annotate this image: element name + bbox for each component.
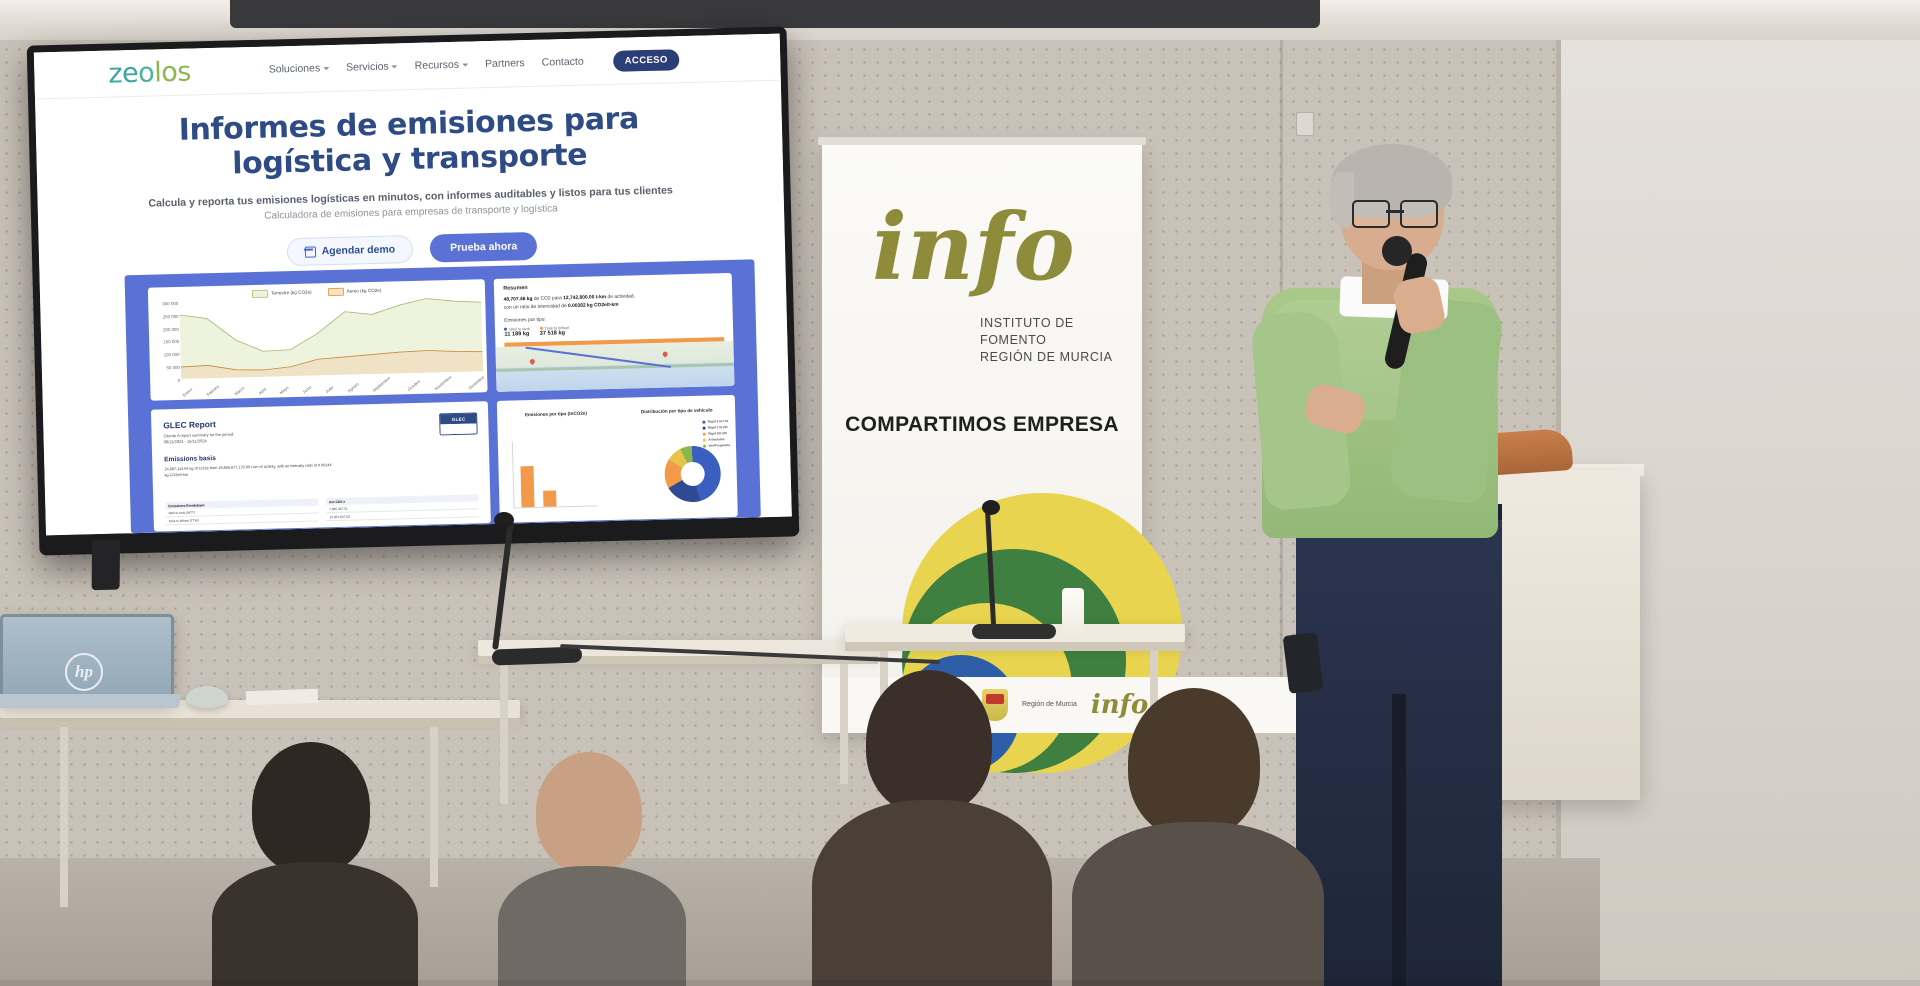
y-tick: 300 000 xyxy=(162,301,178,306)
donut-legend-item: Rigid 20t-26t xyxy=(703,431,730,436)
x-tick: Septiembre xyxy=(372,375,392,392)
x-tick: Junio xyxy=(302,384,313,394)
water-bottle xyxy=(1062,588,1084,638)
wall-plate xyxy=(1296,112,1314,136)
glec-table: Emissions Breakdown Well to tank (WTT) T… xyxy=(165,494,479,525)
y-axis-tick-labels: 300 000 250 000 200 000 150 000 100 000 … xyxy=(150,301,180,384)
vehicle-type-donut-chart xyxy=(664,445,721,502)
info-logo: info xyxy=(872,201,1042,311)
x-axis-tick-labels: Enero Febrero Marzo Abril Mayo Junio Jul… xyxy=(182,386,486,399)
legend-dot-icon xyxy=(703,438,706,441)
bar xyxy=(521,466,535,507)
handheld-microphone-head-icon xyxy=(1382,236,1412,266)
glec-report-card: GLEC GLEC Report Cliente A report summar… xyxy=(151,401,491,531)
x-tick: Julio xyxy=(325,385,335,394)
prueba-ahora-button[interactable]: Prueba ahora xyxy=(430,232,538,263)
charts-card: Emisiones por tipo (tnCO2e) Distribución… xyxy=(497,395,738,523)
audience-shoulders xyxy=(812,800,1052,986)
chevron-down-icon xyxy=(323,67,329,70)
glasses-bridge xyxy=(1386,210,1404,213)
x-tick: Mayo xyxy=(279,385,290,395)
glec-badge-lower xyxy=(441,423,477,434)
ceiling-dark-panel xyxy=(230,0,1320,28)
legend-dot-icon xyxy=(703,426,706,429)
map-pin-icon xyxy=(528,358,535,365)
map-pin-icon xyxy=(661,350,668,357)
x-tick: Noviembre xyxy=(434,375,453,392)
audience-shoulders xyxy=(212,862,418,986)
page-title: Informes de emisiones para logística y t… xyxy=(35,98,783,187)
nav-label: Soluciones xyxy=(269,62,321,75)
x-tick: Diciembre xyxy=(467,375,485,391)
logo-part-3: los xyxy=(154,56,191,88)
nav-item-contacto[interactable]: Contacto xyxy=(542,56,584,69)
donut-legend-label: Rigid 3.5t-7.5t xyxy=(708,419,728,424)
nav-item-servicios[interactable]: Servicios xyxy=(346,60,398,73)
bar xyxy=(543,491,556,507)
y-tick: 150 000 xyxy=(163,339,179,344)
y-tick: 250 000 xyxy=(163,314,179,319)
lens-left xyxy=(1352,200,1390,228)
emissions-area-chart-card: Terrestre (kg CO2e) Aereo (kg CO2e) 300 … xyxy=(148,279,488,401)
calendar-icon xyxy=(305,246,316,257)
laptop: hp xyxy=(0,614,174,702)
x-tick: Enero xyxy=(182,387,194,398)
front-table-edge xyxy=(0,718,520,727)
nav-label: Servicios xyxy=(346,61,389,74)
resumen-title: Resumen xyxy=(503,280,732,292)
nav-item-partners[interactable]: Partners xyxy=(485,57,525,70)
nav-item-recursos[interactable]: Recursos xyxy=(415,59,469,72)
resumen-text: de actividad, xyxy=(606,294,635,300)
microphone-head-icon xyxy=(494,512,514,528)
audience-head xyxy=(866,670,992,814)
glec-table-col-2: Act CO2 e 7,865,367.51 16,821,847.03 xyxy=(326,494,479,521)
x-tick: Febrero xyxy=(206,384,221,397)
legend-label: Terrestre (kg CO2e) xyxy=(271,290,312,296)
resumen-breakdown-items: Well to tank 11 189 kg Tank to Wheel 37 … xyxy=(504,321,724,338)
legend-item-aereo: Aereo (kg CO2e) xyxy=(328,287,382,296)
x-tick: Octubre xyxy=(406,379,421,392)
cta-secondary-label: Agendar demo xyxy=(322,244,396,258)
legend-item-terrestre: Terrestre (kg CO2e) xyxy=(252,289,312,298)
x-tick: Agosto xyxy=(346,381,359,393)
tv-display: zeolos Soluciones Servicios Recursos Par… xyxy=(34,34,792,536)
screenshot-stage: zeolos Soluciones Servicios Recursos Par… xyxy=(0,0,1920,986)
hp-logo: hp xyxy=(65,653,103,691)
y-tick: 200 000 xyxy=(163,327,179,332)
y-tick: 0 xyxy=(178,378,181,383)
resumen-activity-value: 12,742,800.00 t-km xyxy=(563,295,606,301)
audience-head xyxy=(536,752,642,872)
map-background xyxy=(496,341,735,392)
nav-item-soluciones[interactable]: Soluciones xyxy=(269,62,330,76)
info-subtitle-line2: REGIÓN DE MURCIA xyxy=(980,349,1142,366)
paper-sheet xyxy=(246,689,318,706)
banner-footer-text: Región de Murcia xyxy=(1022,700,1077,709)
audience-head xyxy=(252,742,370,874)
eyeglasses-icon xyxy=(1352,200,1438,224)
resumen-summary-card: Resumen 48,707.46 kg de CO2 para 12,742,… xyxy=(494,273,734,392)
glec-badge: GLEC xyxy=(439,412,478,435)
bottom-edge xyxy=(0,980,1920,986)
table-leg xyxy=(60,727,68,907)
lens-right xyxy=(1400,200,1438,228)
resumen-intensity-value: 0.00382 kg CO2e/t-km xyxy=(568,303,619,309)
breakdown-item-wtt: Well to tank 11 189 kg xyxy=(504,326,530,338)
legend-dot-icon xyxy=(703,420,706,423)
donut-legend-label: Rigid 20t-26t xyxy=(708,431,727,435)
dashboard-grid: Terrestre (kg CO2e) Aereo (kg CO2e) 300 … xyxy=(148,273,738,532)
nav-label: Contacto xyxy=(542,56,584,69)
banner-top-rail xyxy=(818,137,1146,145)
agendar-demo-button[interactable]: Agendar demo xyxy=(286,235,413,266)
x-tick: Marzo xyxy=(233,385,245,396)
table-leg xyxy=(430,727,438,887)
speaker-leg-split xyxy=(1392,694,1406,986)
area-chart-svg xyxy=(179,296,483,379)
right-table-edge xyxy=(845,642,1185,651)
logo-part-2: o xyxy=(138,57,155,88)
audience-head xyxy=(1128,688,1260,838)
laptop-base xyxy=(0,694,181,708)
info-logo-small: info xyxy=(1091,690,1148,720)
nav-label: Partners xyxy=(485,57,525,70)
table-leg xyxy=(840,664,848,784)
presentation-screen: zeolos Soluciones Servicios Recursos Par… xyxy=(27,26,800,555)
x-tick: Abril xyxy=(257,387,267,396)
resumen-text: de CO2 para xyxy=(532,296,563,302)
donut-legend: Rigid 3.5t-7.5t Rigid 7.5t-20t Rigid 20t… xyxy=(703,419,730,448)
bar-chart-title: Emisiones por tipo (tnCO2e) xyxy=(498,410,615,418)
banner-tagline: COMPARTIMOS EMPRESA xyxy=(822,413,1142,437)
breakdown-item-ttw: Tank to Wheel 37 518 kg xyxy=(540,325,570,337)
breakdown-value: 11 189 kg xyxy=(504,331,529,338)
emissions-bar-chart xyxy=(512,439,598,508)
legend-dot-icon xyxy=(504,328,507,331)
breakdown-value: 37 518 kg xyxy=(540,330,570,337)
y-tick: 100 000 xyxy=(164,352,180,357)
clicker-device xyxy=(1283,632,1324,694)
resumen-co2-value: 48,707.46 kg xyxy=(504,297,533,303)
zeolos-website: zeolos Soluciones Servicios Recursos Par… xyxy=(34,34,792,536)
nav-label: Recursos xyxy=(415,59,460,72)
nav-links: Soluciones Servicios Recursos Partners C… xyxy=(269,49,680,80)
microphone-base xyxy=(492,646,583,665)
acceso-button[interactable]: ACCESO xyxy=(613,49,679,72)
chart-plot-area xyxy=(179,296,483,379)
table-leg xyxy=(500,664,508,804)
info-subtitle: INSTITUTO DE FOMENTO REGIÓN DE MURCIA xyxy=(980,315,1142,366)
logo-part-1: ze xyxy=(108,57,139,89)
donut-legend-item: Van/Furgoneta xyxy=(703,443,730,448)
tv-stand xyxy=(92,539,120,590)
audience-shoulders xyxy=(1072,822,1324,986)
dashboard-showcase-band: Terrestre (kg CO2e) Aereo (kg CO2e) 300 … xyxy=(125,259,761,533)
info-subtitle-line1: INSTITUTO DE FOMENTO xyxy=(980,315,1142,349)
audience-shoulders xyxy=(498,866,686,986)
chevron-down-icon xyxy=(392,65,398,68)
computer-mouse xyxy=(186,686,228,708)
donut-legend-item: Rigid 3.5t-7.5t xyxy=(703,419,730,424)
y-tick: 50 000 xyxy=(166,365,180,370)
donut-legend-label: Articulated xyxy=(708,437,724,441)
legend-label: Aereo (kg CO2e) xyxy=(347,288,382,294)
glec-table-col-1: Emissions Breakdown Well to tank (WTT) T… xyxy=(165,498,318,525)
resumen-text: con un ratio de intensidad de xyxy=(504,304,568,311)
microphone-base-2 xyxy=(972,624,1056,639)
chevron-down-icon xyxy=(462,63,468,66)
donut-chart-title: Distribución por tipo de vehículo xyxy=(618,407,735,415)
route-map-preview xyxy=(496,341,735,392)
charts-titles: Emisiones por tipo (tnCO2e) Distribución… xyxy=(497,395,735,418)
legend-swatch xyxy=(252,290,268,298)
legend-dot-icon xyxy=(540,327,543,330)
microphone-head-icon-2 xyxy=(982,500,1000,515)
donut-legend-label: Rigid 7.5t-20t xyxy=(708,425,728,429)
donut-legend-label: Van/Furgoneta xyxy=(708,443,730,448)
legend-dot-icon xyxy=(703,444,706,447)
donut-legend-item: Rigid 7.5t-20t xyxy=(703,425,730,430)
legend-dot-icon xyxy=(703,432,706,435)
hero-section: Informes de emisiones para logística y t… xyxy=(35,80,786,289)
donut-legend-item: Articulated xyxy=(703,437,730,442)
legend-swatch xyxy=(328,288,344,296)
zeolos-logo[interactable]: zeolos xyxy=(108,56,191,89)
speaker-hair-side xyxy=(1330,172,1354,228)
